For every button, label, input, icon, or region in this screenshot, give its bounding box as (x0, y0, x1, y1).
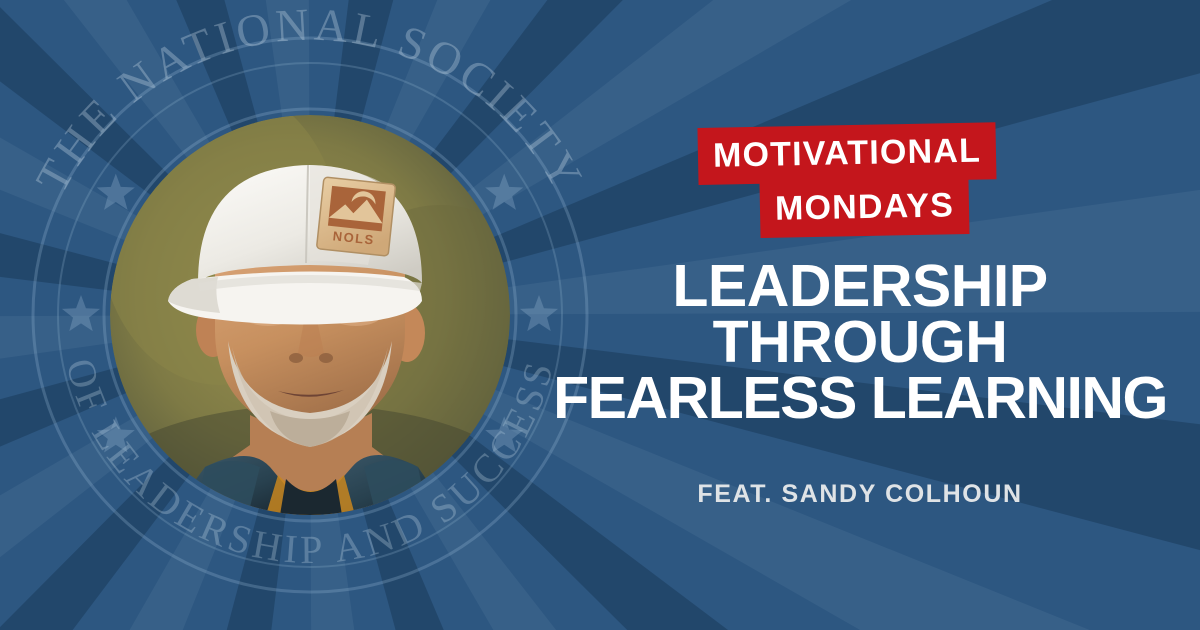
show-badge-group: MOTIVATIONAL MONDAYS (698, 128, 1198, 238)
episode-guest-credit: FEAT. SANDY COLHOUN (520, 480, 1200, 509)
badge-motivational: MOTIVATIONAL (697, 122, 996, 185)
content-column: MOTIVATIONAL MONDAYS LEADERSHIP THROUGH … (520, 0, 1200, 630)
guest-portrait: NOLS (110, 115, 510, 515)
episode-title: LEADERSHIP THROUGH FEARLESS LEARNING (520, 258, 1200, 426)
badge-mondays: MONDAYS (759, 177, 969, 238)
portrait-illustration: NOLS (110, 115, 510, 515)
title-line-1: LEADERSHIP (520, 258, 1200, 314)
title-line-2: THROUGH (520, 314, 1200, 370)
promo-graphic: THE NATIONAL SOCIETY OF LEADERSHIP AND S… (0, 0, 1200, 630)
title-line-3: FEARLESS LEARNING (520, 370, 1200, 426)
